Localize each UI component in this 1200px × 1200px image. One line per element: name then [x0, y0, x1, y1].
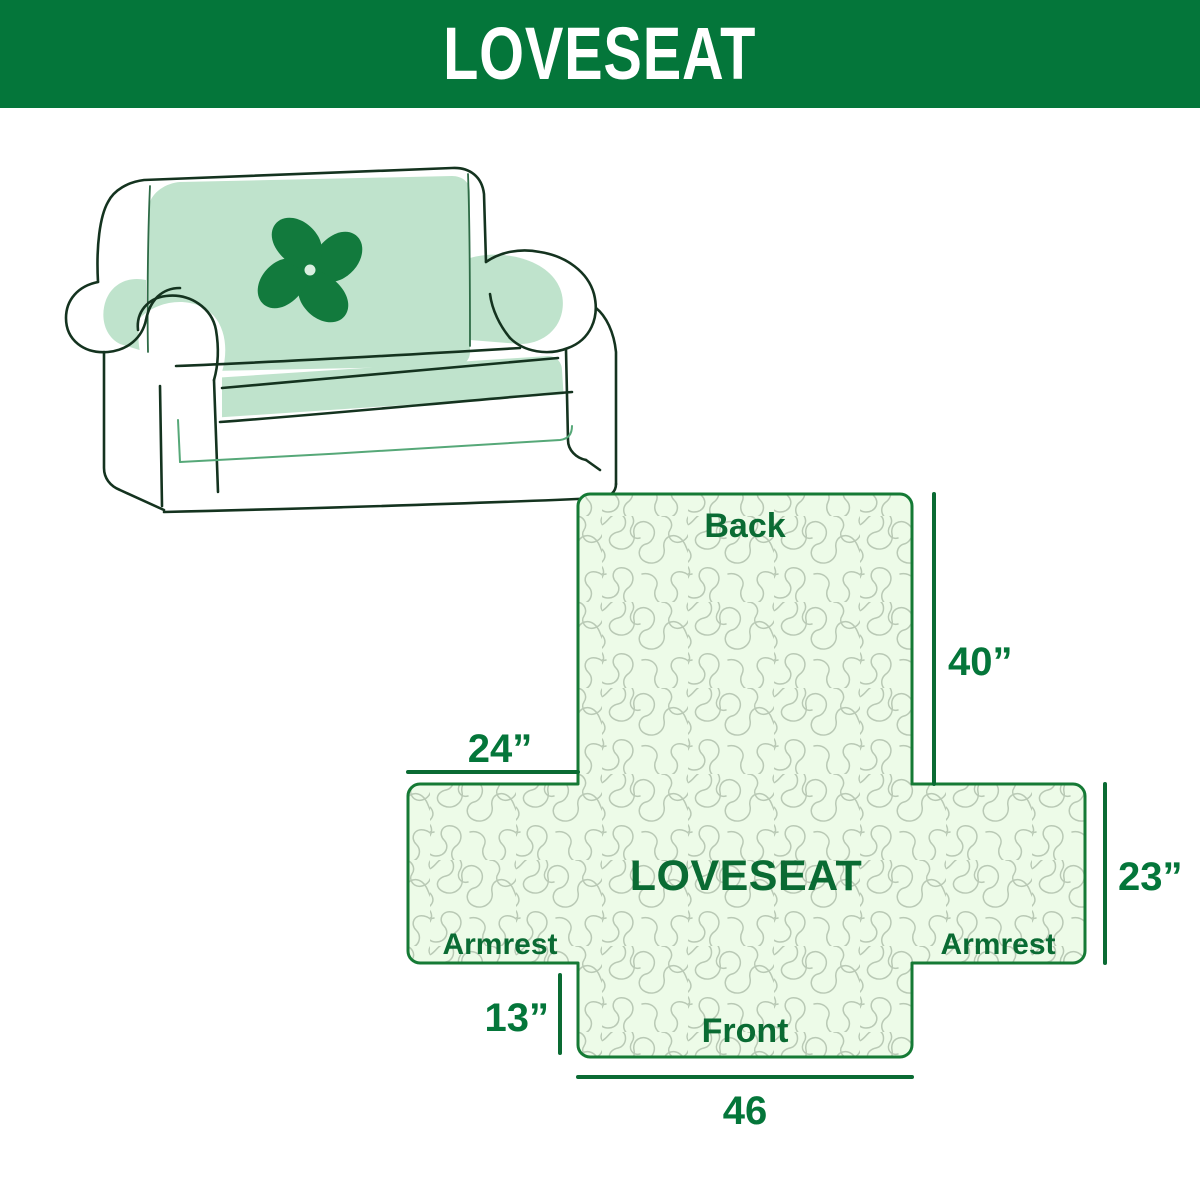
- cover-cross-shape: [408, 494, 1085, 1057]
- panel-label-armrest-right: Armrest: [940, 928, 1055, 961]
- sofa-cover-right-arm: [470, 255, 563, 344]
- dimension-value-back-height: 40”: [948, 640, 1013, 684]
- dimension-arm-bar-height: 23”: [1105, 784, 1183, 963]
- dimension-back-height: 40”: [934, 494, 1013, 784]
- dimension-value-front-width: 46: [723, 1089, 768, 1133]
- cross-shaped-cover-layout: Back LOVESEAT Armrest Armrest Front 40” …: [408, 494, 1183, 1133]
- pinwheel-fan-logo: [258, 218, 363, 323]
- panel-label-center: LOVESEAT: [630, 852, 863, 900]
- panel-label-back: Back: [704, 507, 785, 545]
- loveseat-sofa-illustration: [66, 168, 616, 516]
- pinwheel-hub: [305, 265, 316, 276]
- panel-label-armrest-left: Armrest: [442, 928, 557, 961]
- artwork-stage: Back LOVESEAT Armrest Armrest Front 40” …: [0, 0, 1200, 1200]
- dimension-value-arm-bar-height: 23”: [1118, 855, 1183, 899]
- diagram-svg: Back LOVESEAT Armrest Armrest Front 40” …: [0, 0, 1200, 1200]
- panel-label-front: Front: [702, 1012, 789, 1050]
- dimension-value-front-height: 13”: [485, 996, 550, 1040]
- dimension-front-height: 13”: [485, 975, 561, 1053]
- dimension-value-armrest-width: 24”: [468, 727, 533, 771]
- dimension-armrest-width: 24”: [408, 727, 578, 772]
- dimension-front-width: 46: [578, 1077, 912, 1133]
- product-dimension-page: LOVESEAT: [0, 0, 1200, 1200]
